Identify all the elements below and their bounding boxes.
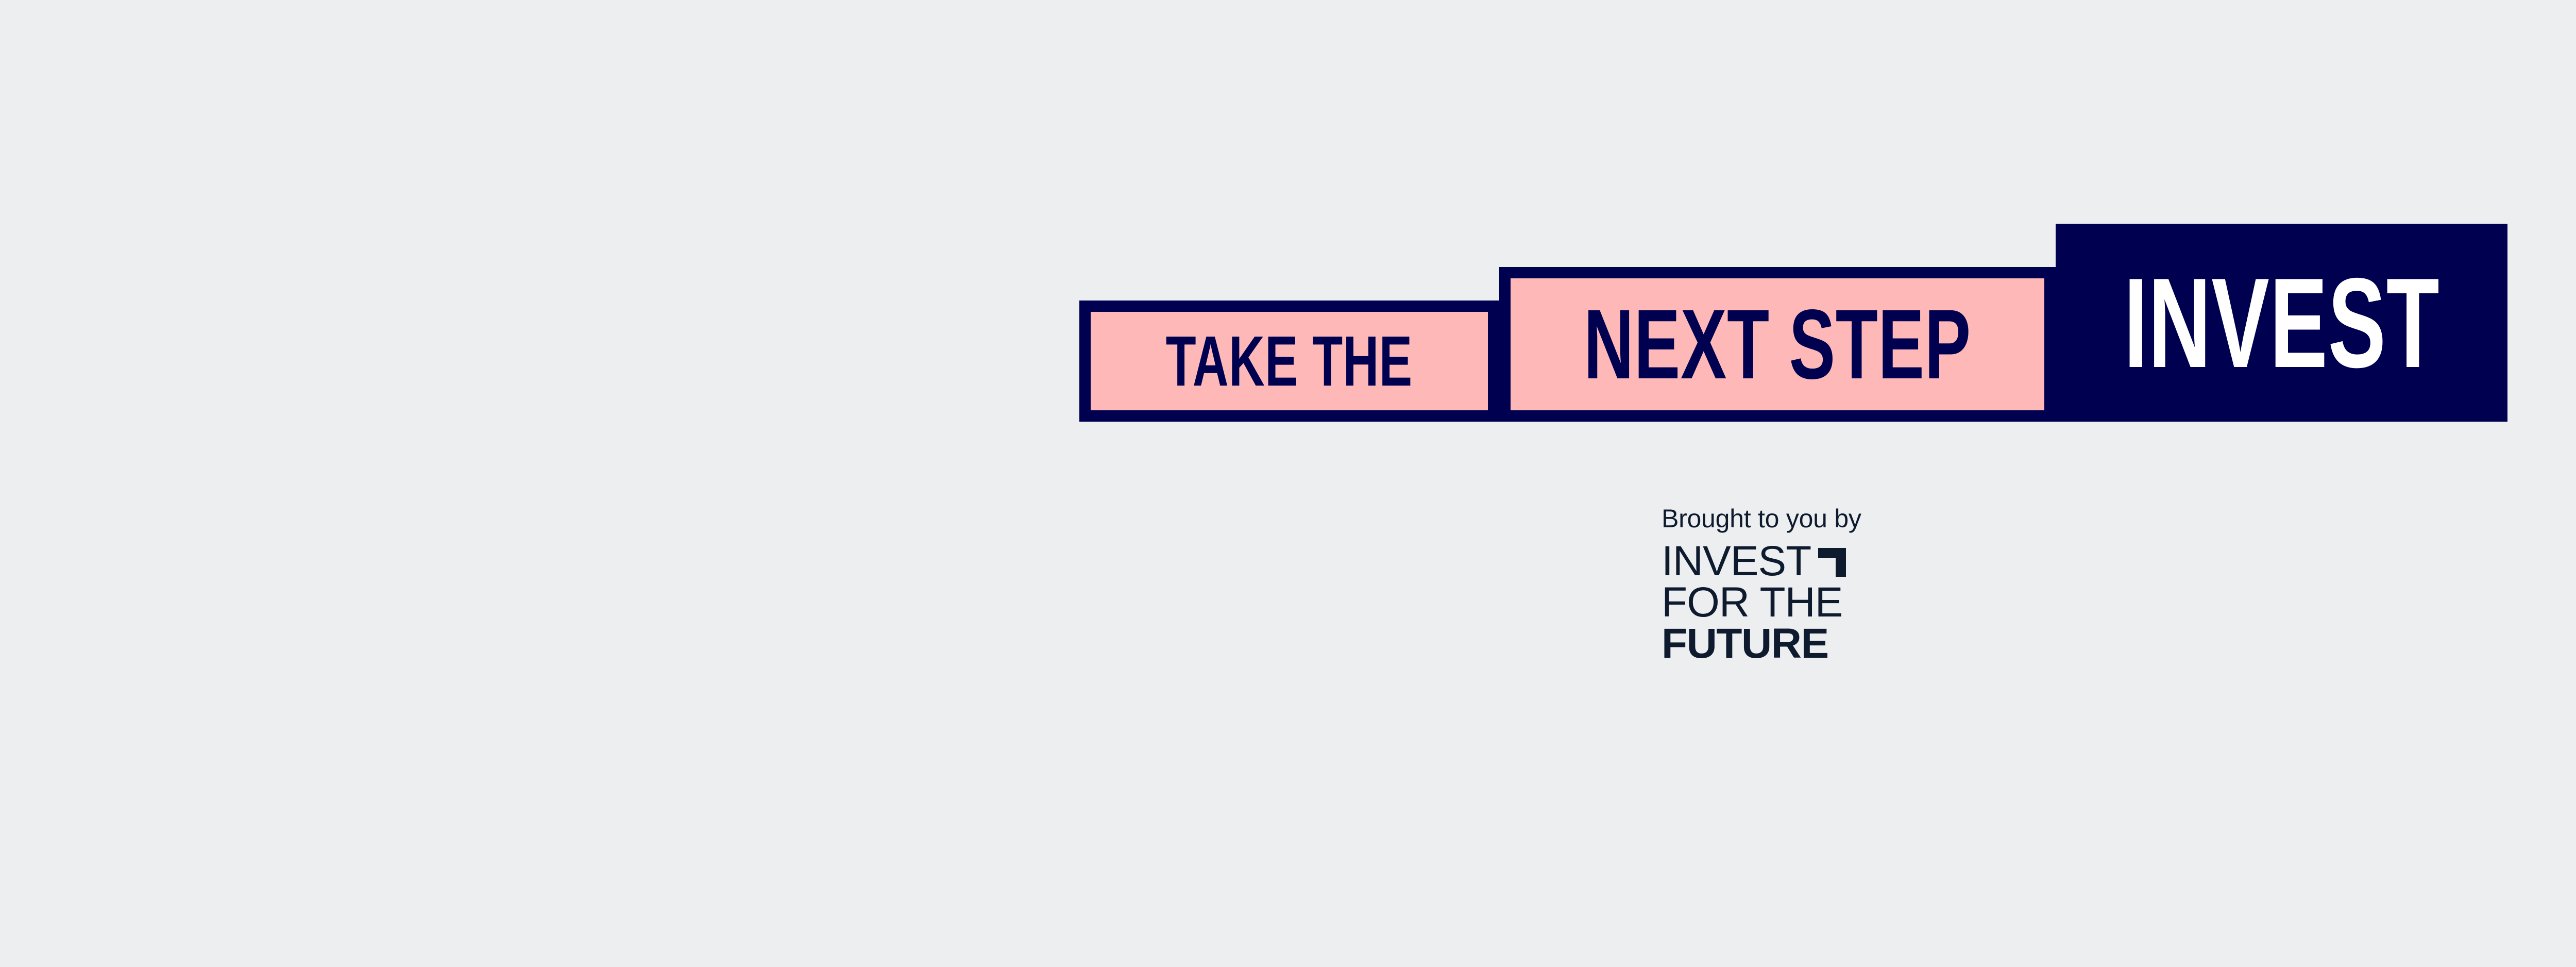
headline-block-invest-fill: INVEST <box>2056 224 2507 422</box>
sponsor-wordmark-row-2: FOR THE <box>1662 582 1927 623</box>
sponsor-wordmark: INVEST FOR THE FUTURE <box>1662 541 1927 665</box>
headline-block-take-the-fill: TAKE THE <box>1091 312 1488 410</box>
headline-block-invest: INVEST <box>2056 224 2507 422</box>
headline-text-take-the: TAKE THE <box>1166 326 1413 397</box>
sponsor-lockup: Brought to you by INVEST FOR THE FUTURE <box>1662 505 1950 665</box>
headline-text-invest: INVEST <box>2124 259 2439 387</box>
sponsor-wordmark-row-3: FUTURE <box>1662 623 1927 664</box>
banner-canvas: TAKE THE NEXT STEP INVEST Brought to you… <box>0 0 2576 967</box>
headline-banner: TAKE THE NEXT STEP INVEST <box>1079 224 2507 422</box>
sponsor-wordmark-line-future: FUTURE <box>1662 623 1828 664</box>
corner-bracket-icon <box>1818 548 1846 577</box>
headline-text-next-step: NEXT STEP <box>1584 295 1971 394</box>
corner-bracket-icon-vertical <box>1836 548 1846 577</box>
sponsor-wordmark-line-for-the: FOR THE <box>1662 582 1843 623</box>
sponsor-wordmark-line-invest: INVEST <box>1662 541 1811 582</box>
headline-block-next-step: NEXT STEP <box>1499 267 2056 422</box>
headline-block-take-the: TAKE THE <box>1079 301 1499 422</box>
sponsor-kicker: Brought to you by <box>1662 505 1950 532</box>
sponsor-wordmark-row-1: INVEST <box>1662 541 1927 582</box>
headline-block-next-step-fill: NEXT STEP <box>1511 278 2044 410</box>
